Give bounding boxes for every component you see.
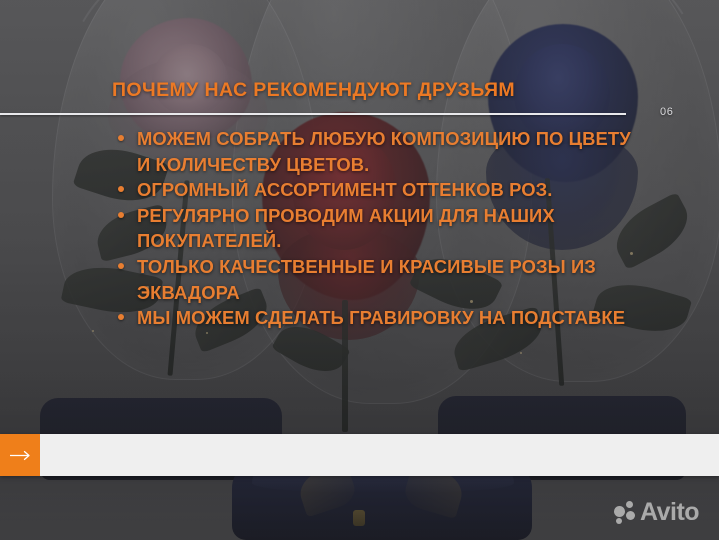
avito-dots-icon [614, 500, 636, 524]
bottom-bar [0, 434, 719, 476]
arrow-right-icon [9, 450, 31, 461]
avito-wordmark: Avito [640, 500, 699, 524]
list-item: МЫ МОЖЕМ СДЕЛАТЬ ГРАВИРОВКУ НА ПОДСТАВКЕ [116, 305, 636, 331]
title-divider [0, 113, 626, 115]
list-item: РЕГУЛЯРНО ПРОВОДИМ АКЦИИ ДЛЯ НАШИХ ПОКУП… [116, 203, 636, 254]
list-item: ОГРОМНЫЙ АССОРТИМЕНТ ОТТЕНКОВ РОЗ. [116, 177, 636, 203]
avito-watermark: Avito [614, 500, 699, 524]
presentation-slide: ПОЧЕМУ НАС РЕКОМЕНДУЮТ ДРУЗЬЯМ 06 МОЖЕМ … [0, 0, 719, 540]
list-item: МОЖЕМ СОБРАТЬ ЛЮБУЮ КОМПОЗИЦИЮ ПО ЦВЕТУ … [116, 126, 636, 177]
page-title: ПОЧЕМУ НАС РЕКОМЕНДУЮТ ДРУЗЬЯМ [112, 79, 515, 102]
benefits-list: МОЖЕМ СОБРАТЬ ЛЮБУЮ КОМПОЗИЦИЮ ПО ЦВЕТУ … [116, 126, 636, 331]
list-item: ТОЛЬКО КАЧЕСТВЕННЫЕ И КРАСИВЫЕ РОЗЫ ИЗ Э… [116, 254, 636, 305]
page-number: 06 [660, 106, 673, 118]
slide-content: ПОЧЕМУ НАС РЕКОМЕНДУЮТ ДРУЗЬЯМ 06 МОЖЕМ … [0, 0, 719, 540]
next-slide-button[interactable] [0, 434, 40, 476]
